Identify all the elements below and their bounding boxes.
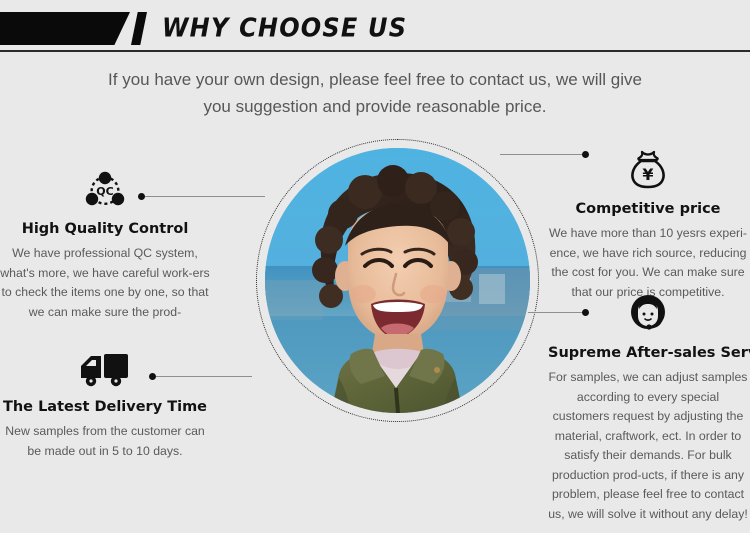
banner-slash-accent (131, 12, 147, 45)
feature-body: We have more than 10 yesrs experi-ence, … (548, 224, 748, 302)
page-header-banner: WHY CHOOSE US (0, 0, 750, 52)
delivery-truck-icon (0, 352, 210, 393)
feature-body: New samples from the customer can be mad… (0, 422, 210, 461)
feature-body: We have professional QC system, what's m… (0, 244, 210, 322)
feature-body: For samples, we can adjust samples accor… (548, 368, 748, 524)
banner-divider-rule (0, 50, 750, 52)
feature-title: High Quality Control (0, 221, 210, 237)
photo-circle-image (265, 148, 530, 413)
money-bag-yen-icon: ¥ (548, 148, 748, 195)
feature-high-quality-control: QC High Quality Control We have professi… (0, 170, 210, 322)
page-subtitle: If you have your own design, please feel… (95, 66, 655, 120)
feature-title: The Latest Delivery Time (0, 399, 210, 415)
feature-title: Competitive price (548, 201, 748, 217)
feature-supreme-after-sales-services: Supreme After-sales Services For samples… (548, 292, 748, 524)
banner-black-bar (0, 12, 130, 45)
headset-support-icon (548, 292, 748, 339)
svg-text:QC: QC (96, 185, 113, 198)
page-title: WHY CHOOSE US (162, 11, 407, 47)
feature-latest-delivery-time: The Latest Delivery Time New samples fro… (0, 352, 210, 461)
qc-circles-icon: QC (0, 170, 210, 215)
center-photo (265, 148, 530, 413)
child-portrait-illustration (265, 148, 530, 413)
yen-symbol: ¥ (642, 165, 653, 184)
feature-title: Supreme After-sales Services (548, 345, 748, 361)
feature-competitive-price: ¥ Competitive price We have more than 10… (548, 148, 748, 302)
